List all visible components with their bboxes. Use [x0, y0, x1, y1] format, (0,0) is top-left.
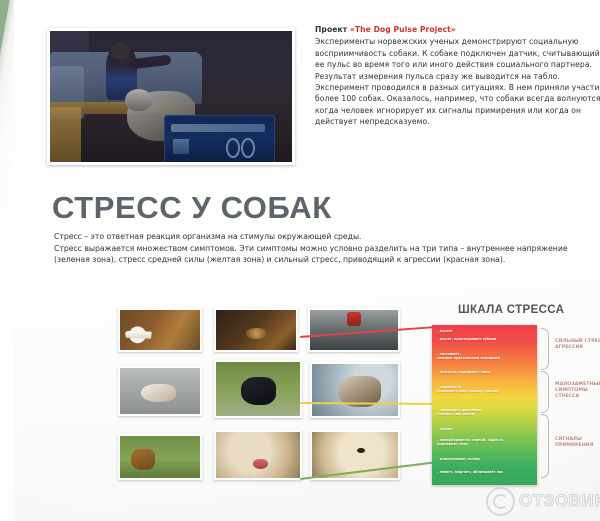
- zone-label-medium: МАЛОЗАМЕТНЫЕ СИМПТОМЫ СТРЕССА: [555, 382, 600, 401]
- watermark-text: ОТЗОВИК: [519, 491, 600, 511]
- project-text-block: Проект «The Dog Pulse Project» Экспериме…: [315, 24, 600, 128]
- scale-item-9: – зевает, моргает, облизывает нос: [437, 470, 533, 474]
- photo-snarling-dog: [214, 308, 298, 352]
- project-title: Проект «The Dog Pulse Project»: [315, 24, 600, 35]
- intro-line-2: Стресс выражается множеством симптомов. …: [54, 243, 574, 266]
- zone-bracket-low: [541, 414, 549, 478]
- scale-item-1: – рычит, приоткрывает зубами: [437, 337, 533, 341]
- stress-scale-gradient: – кусает – рычит, приоткрывает зубами – …: [432, 325, 537, 485]
- stress-scale-title: ШКАЛА СТРЕССА: [458, 303, 564, 316]
- scale-item-6: – уходит: [437, 427, 533, 431]
- scale-item-2: – застывает, смотрит пристальным холодны…: [437, 352, 533, 361]
- photo-dogs-playing: [118, 434, 202, 480]
- lab-dog-pulse-photo: [47, 28, 295, 165]
- project-title-ru: Проект: [315, 25, 350, 34]
- dog-photo-grid: [118, 308, 400, 480]
- zone-label-high: СИЛЬНЫЙ СТРЕСС, АГРЕССИЯ: [555, 339, 600, 351]
- shaking-dog-image: [312, 364, 398, 416]
- growling-dog-image: [120, 310, 200, 350]
- lab-photo-inner: [50, 31, 292, 162]
- zone-label-low: СИГНАЛЫ ПРИМИРЕНИЯ: [555, 437, 600, 449]
- dog-on-leash-image: [120, 368, 200, 414]
- poster-photograph: Проект «The Dog Pulse Project» Экспериме…: [0, 0, 600, 521]
- page-title: СТРЕСС У СОБАК: [52, 190, 332, 226]
- scale-item-5: – замедляет движения, отводит уши назад: [437, 408, 533, 417]
- poster-sheet: Проект «The Dog Pulse Project» Экспериме…: [14, 0, 600, 521]
- zone-bracket-medium: [541, 371, 549, 413]
- zone-bracket-high: [541, 328, 549, 370]
- intro-line-1: Стресс – это ответная реакция организма …: [54, 231, 574, 243]
- scale-item-4: – сжимается, подбивает хвост между лапам…: [437, 385, 533, 394]
- photo-black-dog: [214, 360, 302, 418]
- dog-licking-image: [216, 432, 300, 478]
- photo-growling-dog: [118, 308, 202, 352]
- photo-dog-on-leash: [118, 366, 202, 416]
- photo-shaking-dog: [310, 362, 400, 418]
- lab-scene: [50, 31, 292, 162]
- scale-item-7: – поворачивается спиной, садится, подним…: [437, 438, 533, 447]
- lab-haze: [50, 31, 292, 162]
- dogs-playing-image: [120, 436, 200, 478]
- intro-text-block: Стресс – это ответная реакция организма …: [54, 231, 574, 266]
- scale-item-0: – кусает: [437, 329, 533, 333]
- project-body: Эксперименты норвежских ученых демонстри…: [315, 36, 600, 127]
- scale-item-8: – отворачивает голову: [437, 457, 533, 461]
- black-dog-image: [216, 362, 300, 416]
- spiral-icon: [486, 487, 515, 516]
- scale-item-3: – пожатся, поднимает лапы: [437, 370, 533, 374]
- snarling-dog-image: [216, 310, 296, 350]
- project-title-en: «The Dog Pulse Project»: [350, 25, 456, 34]
- photo-dog-licking: [214, 430, 302, 480]
- otzovik-watermark: ОТЗОВИК: [486, 486, 600, 516]
- project-section: Проект «The Dog Pulse Project» Экспериме…: [47, 24, 600, 184]
